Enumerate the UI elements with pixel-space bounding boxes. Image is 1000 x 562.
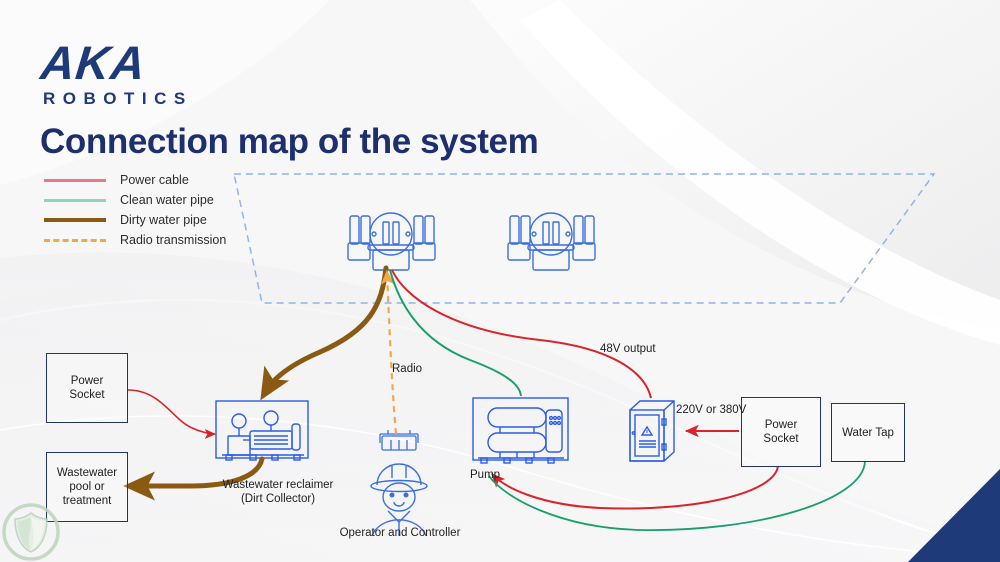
watermark-shield-icon	[2, 503, 60, 561]
remote-controller-icon	[380, 430, 418, 450]
node-power-socket-left[interactable]: Power Socket	[46, 353, 128, 423]
caption-pump: Pump	[470, 468, 526, 482]
edge-radio-controller-to-robot	[387, 272, 396, 434]
diagram-canvas: AKA ROBOTICS Connection map of the syste…	[0, 0, 1000, 562]
caption-operator: Operator and Controller	[330, 526, 470, 540]
robot-work-area-boundary	[234, 174, 934, 303]
edge-clean-water-tap-to-pump	[489, 461, 865, 530]
node-power-socket-left-label: Power Socket	[69, 374, 104, 402]
edge-power-48v-cabinet-to-robot	[392, 270, 651, 398]
edge-label-220v-or-380v: 220V or 380V	[676, 403, 766, 417]
corner-triangle-decoration	[908, 469, 1000, 562]
edge-dirty-water-robot-to-reclaimer	[266, 268, 386, 391]
edge-label-48v-output: 48V output	[600, 342, 680, 356]
edge-power-socket-left-to-reclaimer	[128, 390, 215, 434]
wastewater-reclaimer-icon	[216, 401, 308, 460]
node-power-socket-right-label: Power Socket	[763, 418, 798, 446]
caption-wastewater-reclaimer: Wastewater reclaimer (Dirt Collector)	[198, 478, 358, 506]
robot-icon-left	[348, 213, 435, 270]
electrical-cabinet-icon	[630, 401, 674, 461]
pump-icon	[473, 398, 568, 463]
node-wastewater-pool-label: Wastewater pool or treatment	[57, 466, 117, 508]
edge-power-socket-right-to-pump	[492, 466, 778, 509]
node-water-tap-label: Water Tap	[842, 426, 894, 440]
edge-label-radio: Radio	[392, 362, 442, 376]
node-water-tap[interactable]: Water Tap	[831, 403, 905, 462]
robot-icon-right	[508, 213, 595, 270]
